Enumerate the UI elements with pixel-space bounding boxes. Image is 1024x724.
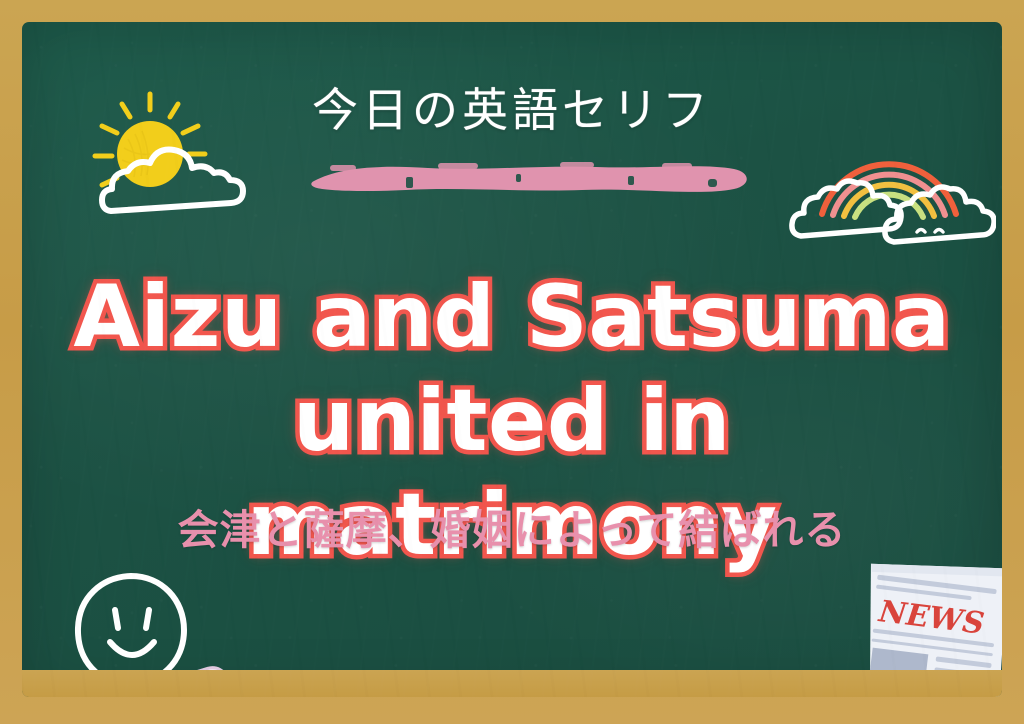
chalk-ledge (22, 670, 1002, 697)
kicker-text: 今日の英語セリフ (298, 74, 726, 146)
headline-line-1: Aizu and Satsuma (22, 265, 1002, 369)
page-title: Aizu and Satsuma united in matrimony (22, 265, 1002, 577)
page-subtitle: 会津と薩摩、婚姻によって結ばれる (22, 496, 1002, 556)
rainbow-clouds-icon (774, 114, 996, 252)
chalkboard-poster: 今日の英語セリフ Aizu and Satsuma united in matr… (0, 0, 1024, 724)
chalkboard-surface: 今日の英語セリフ Aizu and Satsuma united in matr… (22, 22, 1002, 697)
brush-underline (310, 159, 754, 193)
kicker-row: 今日の英語セリフ (22, 74, 1002, 146)
headline-line-2: united in matrimony (22, 369, 1002, 577)
sun-cloud-icon (80, 84, 270, 224)
newspaper-masthead: NEWS (876, 594, 986, 642)
